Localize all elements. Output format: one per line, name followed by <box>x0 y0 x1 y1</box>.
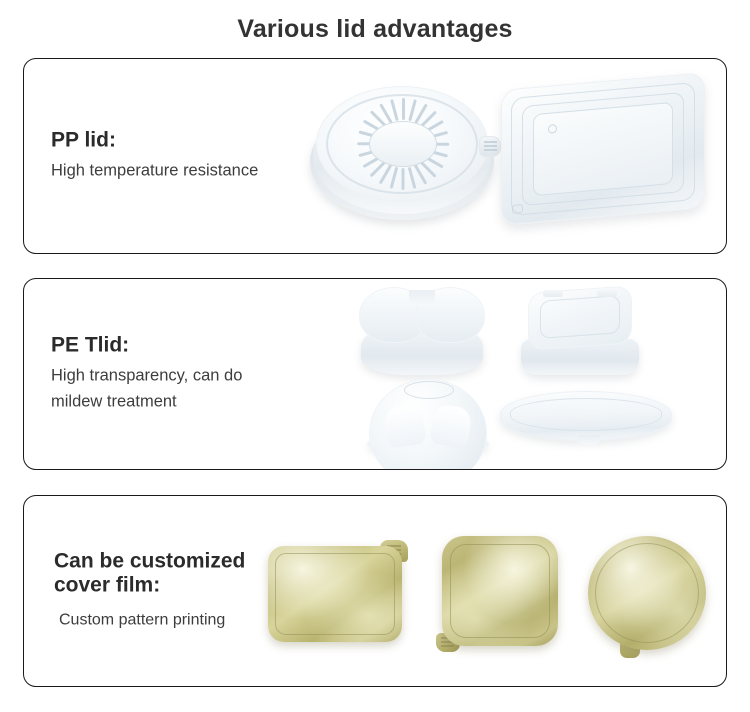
square-pe-lid-nub-right <box>597 290 617 297</box>
panel-pe-subtitle: High transparency, can do mildew treatme… <box>51 363 351 415</box>
round-pp-lid-rib <box>427 143 449 146</box>
panel-pe-heading: PE Tlid: <box>51 333 351 357</box>
oval-flat-pe-lid-notch <box>578 435 600 445</box>
square-gold-foil-film-tab <box>436 633 460 652</box>
square-gold-foil-film-sheet <box>442 536 558 646</box>
panel-cover-film: Can be customized cover film: Custom pat… <box>23 495 727 687</box>
round-pp-lid-center-hub <box>369 121 437 167</box>
dome-cup-pe-lid-top-disc <box>404 381 454 399</box>
round-pp-lid-rib <box>358 131 380 139</box>
rectangular-gold-foil-film-tab <box>380 540 408 562</box>
heart-pe-lid-lobe-right <box>415 287 485 343</box>
round-pp-lid-rib <box>423 155 443 168</box>
panel-film-heading: Can be customized cover film: <box>54 550 354 599</box>
rectangular-pp-lid-body <box>501 72 705 226</box>
round-pp-lid-rib <box>408 167 416 189</box>
oval-flat-pe-lid-plate <box>500 391 672 441</box>
dome-cup-pe-lid-facet-right <box>429 403 473 448</box>
panel-pe-text-block: PE Tlid: High transparency, can do milde… <box>51 333 351 414</box>
dome-cup-pe-lid <box>367 379 489 455</box>
panel-film-subtitle: Custom pattern printing <box>54 603 354 632</box>
heart-pe-lid-center-dip <box>409 290 435 306</box>
round-pp-lid-rib <box>426 131 448 139</box>
round-pp-lid-rib <box>402 98 405 120</box>
heart-pe-lid-lobe-left <box>359 287 429 343</box>
round-pp-lid-rib <box>414 104 427 124</box>
round-pp-lid-rib <box>414 164 427 184</box>
panel-film-text-block: Can be customized cover film: Custom pat… <box>54 550 354 633</box>
round-pp-lid-rib <box>379 164 392 184</box>
round-pp-lid-rib <box>370 160 387 177</box>
heart-pe-lid-base <box>361 333 483 375</box>
round-pp-lid-rib <box>390 167 398 189</box>
rectangular-pp-lid <box>501 81 705 223</box>
square-pe-lid <box>521 289 639 375</box>
round-pp-lid-rib <box>357 143 379 146</box>
heart-pe-lid <box>357 287 487 375</box>
round-pp-lid-rib <box>363 155 383 168</box>
rectangular-pp-lid-ridge-middle <box>522 92 684 206</box>
round-pp-lid-rib <box>379 104 392 124</box>
rectangular-pp-lid-ridge-inner <box>533 102 673 196</box>
square-gold-foil-film <box>436 536 564 654</box>
dome-cup-pe-lid-facet-left <box>383 403 427 448</box>
round-pp-lid-rib <box>358 149 380 157</box>
round-pp-lid-tab <box>479 136 501 157</box>
round-pp-lid-rib <box>370 111 387 128</box>
rectangular-pp-lid-corner-notch <box>512 204 523 214</box>
round-gold-foil-film-tab <box>620 642 640 658</box>
rectangular-pp-lid-ridge-outer <box>511 82 695 216</box>
square-pe-lid-base <box>521 339 639 375</box>
rectangular-pp-lid-mark-icon <box>548 124 557 134</box>
panel-pp-heading: PP lid: <box>51 128 351 152</box>
square-pe-lid-nub-left <box>543 290 563 297</box>
round-pp-lid-rib <box>408 99 416 121</box>
round-gold-foil-film <box>584 536 714 658</box>
dome-cup-pe-lid-cap <box>369 379 487 470</box>
panel-pp-text-block: PP lid: High temperature resistance <box>51 128 351 183</box>
round-pp-lid-rib <box>426 149 448 157</box>
round-pp-lid-rib <box>363 120 383 133</box>
dome-cup-pe-lid-rim <box>367 433 489 455</box>
panel-pp-subtitle: High temperature resistance <box>51 158 351 184</box>
panel-pe-lid: PE Tlid: High transparency, can do milde… <box>23 278 727 470</box>
page-title: Various lid advantages <box>0 0 750 46</box>
round-pp-lid-rib <box>419 111 436 128</box>
square-pe-lid-dome <box>528 285 632 350</box>
round-pp-lid-rib <box>390 99 398 121</box>
heart-pe-lid-dome <box>357 287 487 349</box>
oval-flat-pe-lid <box>500 391 672 449</box>
round-pp-lid-rib <box>423 120 443 133</box>
round-pp-lid-rib <box>402 168 405 190</box>
round-pp-lid-rib <box>419 160 436 177</box>
panel-pp-lid: PP lid: High temperature resistance <box>23 58 727 254</box>
round-gold-foil-film-sheet <box>588 536 706 650</box>
